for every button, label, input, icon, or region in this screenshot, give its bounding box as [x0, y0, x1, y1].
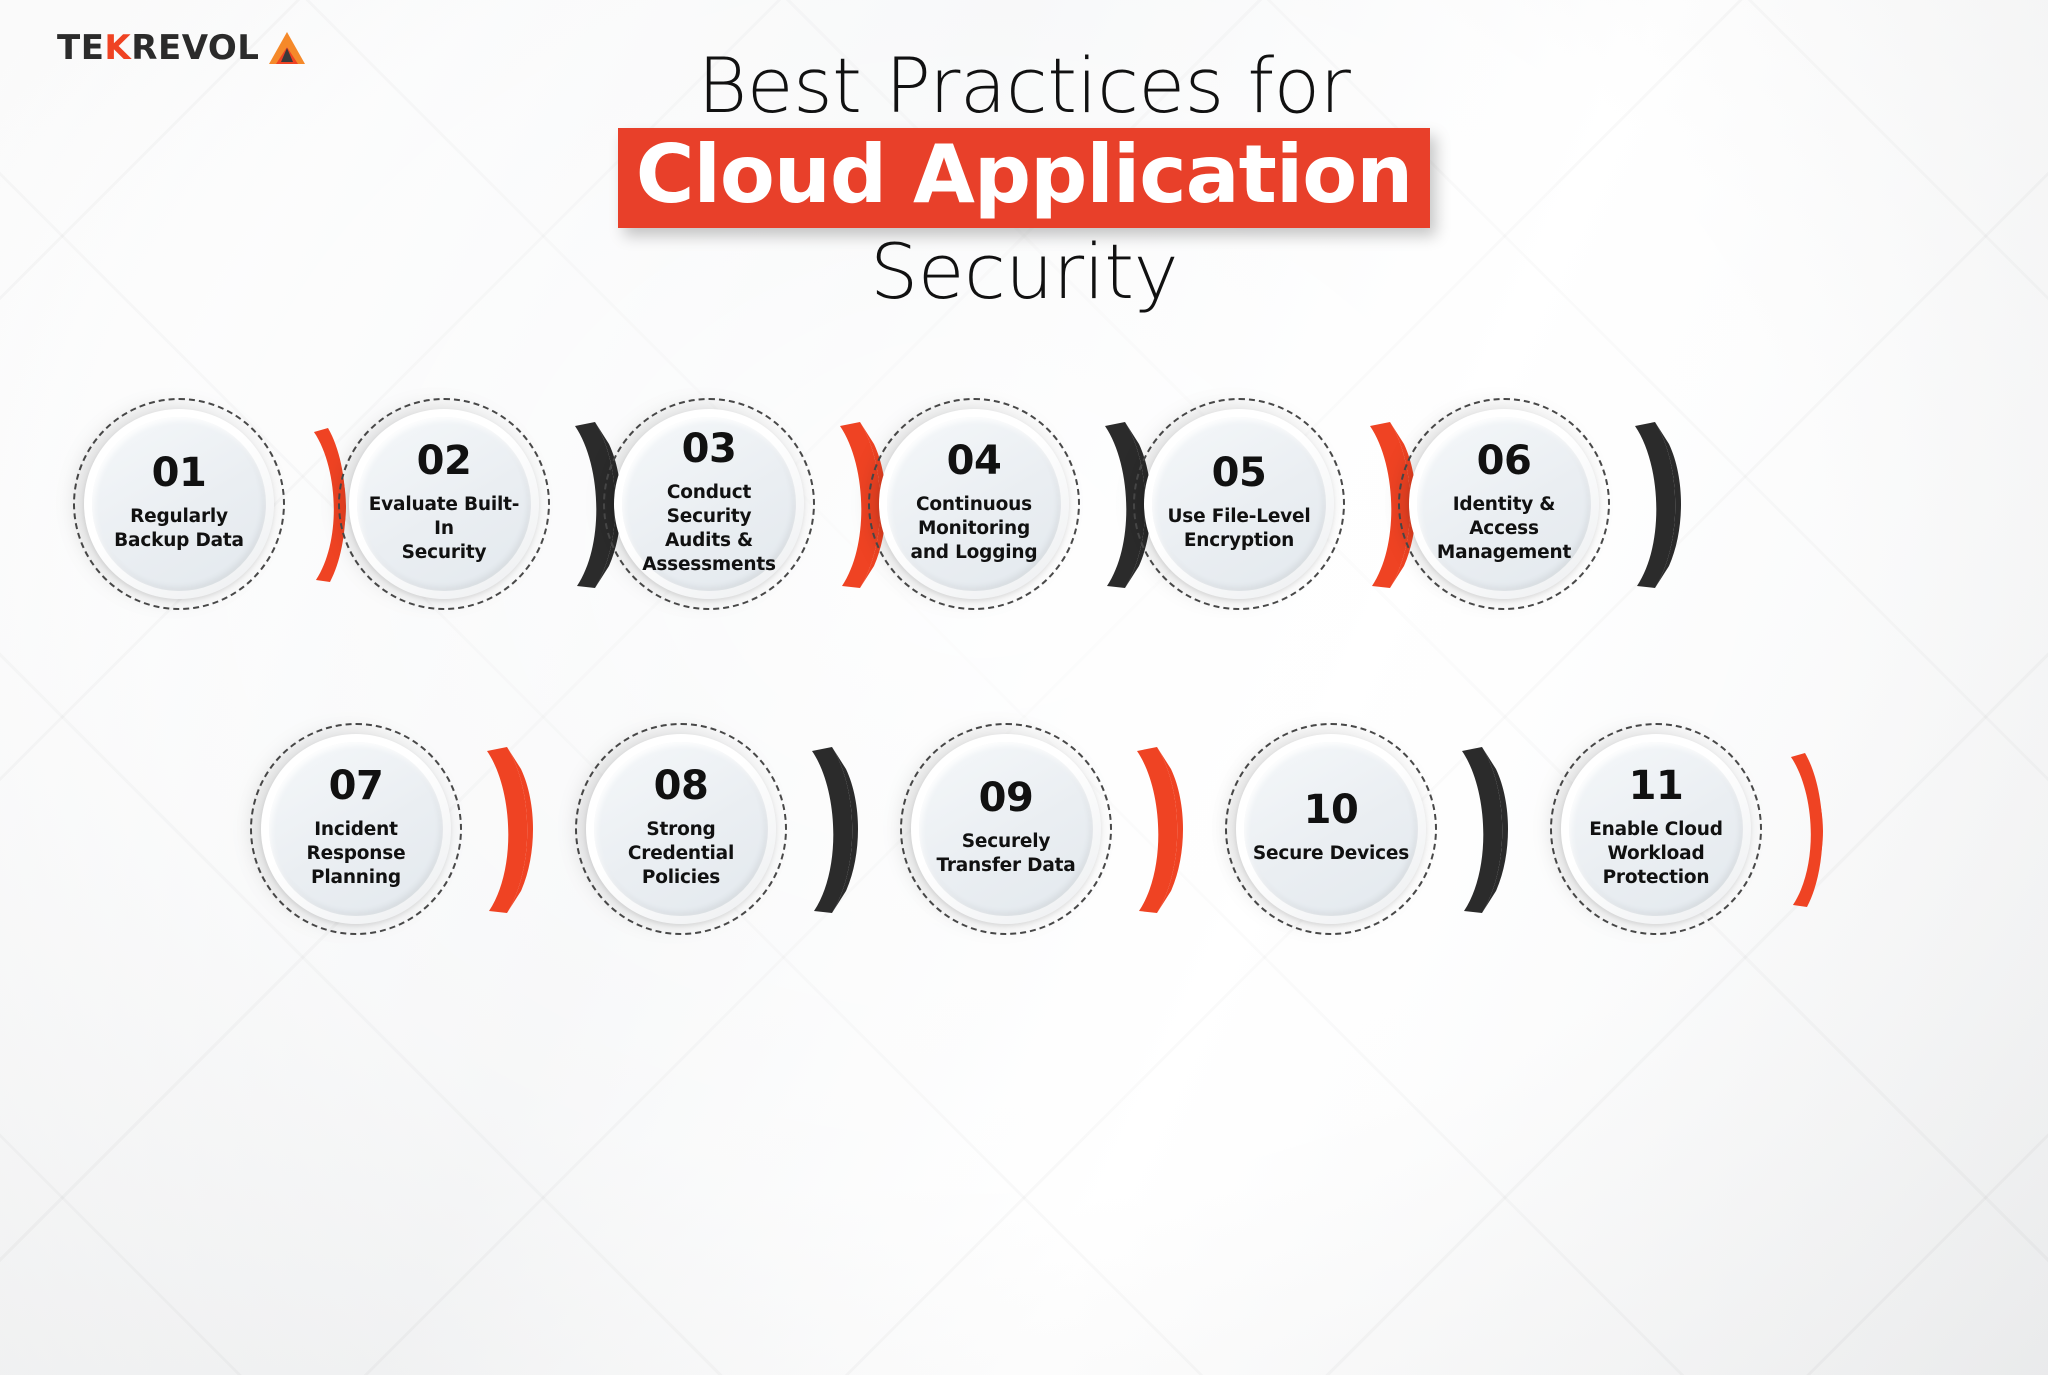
- step-node-01[interactable]: 01 Regularly Backup Data: [73, 398, 285, 610]
- node-disc-inner: 10 Secure Devices: [1244, 742, 1418, 916]
- step-node-02[interactable]: 02 Evaluate Built-In Security: [338, 398, 550, 610]
- node-label: Identity & Access Management: [1425, 493, 1583, 565]
- node-label: Enable Cloud Workload Protection: [1589, 818, 1723, 890]
- step-node-04[interactable]: 04 Continuous Monitoring and Logging: [868, 398, 1080, 610]
- node-disc-inner: 09 Securely Transfer Data: [919, 742, 1093, 916]
- node-number: 06: [1477, 441, 1532, 481]
- node-number: 04: [947, 441, 1002, 481]
- node-disc-inner: 02 Evaluate Built-In Security: [357, 417, 531, 591]
- connector-chevron-09: [1127, 745, 1199, 917]
- node-number: 09: [979, 778, 1034, 818]
- node-label: Strong Credential Policies: [602, 818, 760, 890]
- connector-chevron-08: [802, 745, 874, 917]
- node-label: Incident Response Planning: [277, 818, 435, 890]
- node-disc-inner: 01 Regularly Backup Data: [92, 417, 266, 591]
- node-number: 03: [682, 429, 737, 469]
- step-node-03[interactable]: 03 Conduct Security Audits & Assessments: [603, 398, 815, 610]
- title-highlight-banner: Cloud Application: [618, 128, 1430, 228]
- page-title: Best Practices for Cloud Application Sec…: [0, 48, 2048, 310]
- connector-chevron-10: [1452, 745, 1524, 917]
- node-disc-inner: 05 Use File-Level Encryption: [1152, 417, 1326, 591]
- title-line-3: Security: [0, 234, 2048, 310]
- node-label: Conduct Security Audits & Assessments: [630, 481, 788, 577]
- node-number: 01: [152, 453, 207, 493]
- node-label: Evaluate Built-In Security: [365, 493, 523, 565]
- node-number: 11: [1629, 766, 1684, 806]
- step-node-08[interactable]: 08 Strong Credential Policies: [575, 723, 787, 935]
- node-number: 10: [1304, 790, 1359, 830]
- step-node-07[interactable]: 07 Incident Response Planning: [250, 723, 462, 935]
- step-node-05[interactable]: 05 Use File-Level Encryption: [1133, 398, 1345, 610]
- node-number: 07: [329, 766, 384, 806]
- connector-chevron-11: [1777, 745, 1849, 917]
- step-node-06[interactable]: 06 Identity & Access Management: [1398, 398, 1610, 610]
- connector-chevron-07: [477, 745, 549, 917]
- title-banner-wrapper: Cloud Application: [0, 128, 2048, 228]
- node-number: 05: [1212, 453, 1267, 493]
- node-label: Regularly Backup Data: [114, 505, 244, 553]
- node-disc-inner: 07 Incident Response Planning: [269, 742, 443, 916]
- node-disc-inner: 04 Continuous Monitoring and Logging: [887, 417, 1061, 591]
- node-disc-inner: 03 Conduct Security Audits & Assessments: [622, 417, 796, 591]
- node-label: Continuous Monitoring and Logging: [911, 493, 1038, 565]
- node-number: 08: [654, 766, 709, 806]
- step-node-09[interactable]: 09 Securely Transfer Data: [900, 723, 1112, 935]
- node-disc-inner: 08 Strong Credential Policies: [594, 742, 768, 916]
- node-label: Securely Transfer Data: [936, 830, 1075, 878]
- node-label: Use File-Level Encryption: [1167, 505, 1310, 553]
- node-disc-inner: 11 Enable Cloud Workload Protection: [1569, 742, 1743, 916]
- infographic-canvas: TEKREVOL Best Practices for Cloud Applic…: [0, 0, 2048, 1375]
- node-disc-inner: 06 Identity & Access Management: [1417, 417, 1591, 591]
- step-node-11[interactable]: 11 Enable Cloud Workload Protection: [1550, 723, 1762, 935]
- node-number: 02: [417, 441, 472, 481]
- node-label: Secure Devices: [1253, 842, 1409, 866]
- connector-chevron-06: [1625, 420, 1697, 592]
- step-node-10[interactable]: 10 Secure Devices: [1225, 723, 1437, 935]
- title-line-1: Best Practices for: [0, 48, 2048, 124]
